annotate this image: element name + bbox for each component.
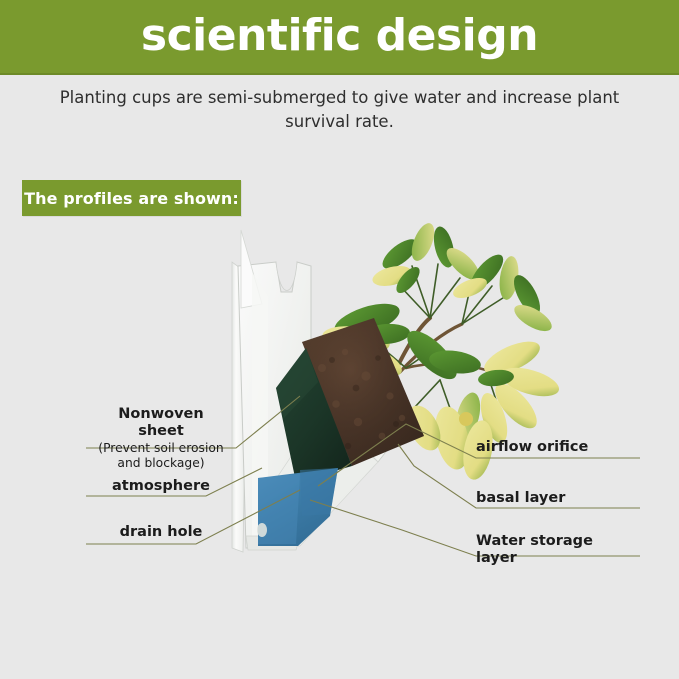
subtitle-text: Planting cups are semi-submerged to give… — [50, 86, 629, 134]
callout-atmosphere: atmosphere — [86, 478, 236, 495]
callout-nonwoven-sheet-title: Nonwoven sheet — [86, 406, 236, 440]
callout-atmosphere-title: atmosphere — [86, 478, 236, 495]
leaf-cluster-center — [400, 323, 482, 386]
callout-airflow-orifice: airflow orifice — [476, 439, 646, 456]
callout-nonwoven-sheet-note: (Prevent soil erosion and blockage) — [86, 441, 236, 470]
callout-nonwoven-sheet: Nonwoven sheet (Prevent soil erosion and… — [86, 406, 236, 470]
callout-water-storage-layer-title: Water storage layer — [476, 533, 646, 567]
callout-drain-hole-title: drain hole — [86, 524, 236, 541]
callout-drain-hole: drain hole — [86, 524, 236, 541]
drain-hole-detail — [257, 523, 267, 537]
callout-basal-layer: basal layer — [476, 490, 646, 507]
header-banner: scientific design — [0, 0, 679, 75]
callout-airflow-orifice-title: airflow orifice — [476, 439, 646, 456]
callout-basal-layer-title: basal layer — [476, 490, 646, 507]
leaf-cluster-lower-right — [452, 335, 563, 446]
callout-water-storage-layer: Water storage layer — [476, 533, 646, 567]
leaf-bud — [459, 412, 473, 426]
page-title: scientific design — [141, 14, 538, 58]
